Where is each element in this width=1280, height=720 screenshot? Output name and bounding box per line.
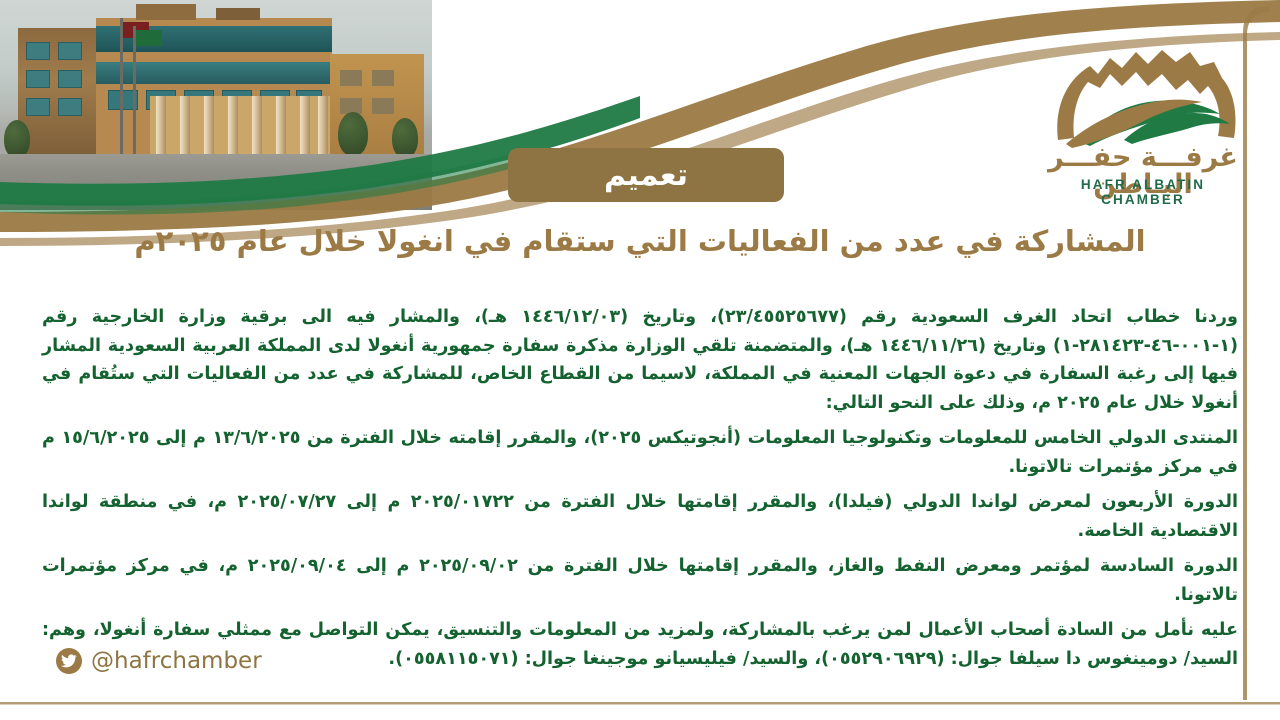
- logo-mark-icon: [1028, 44, 1256, 148]
- chamber-building-photo: [0, 0, 432, 210]
- badge-label: تعميم: [604, 158, 688, 193]
- announcement-body: وردنا خطاب اتحاد الغرف السعودية رقم (٢٣/…: [42, 303, 1238, 673]
- page-title: المشاركة في عدد من الفعاليات التي ستقام …: [40, 222, 1240, 261]
- circular-badge: تعميم: [508, 148, 784, 202]
- body-paragraph: وردنا خطاب اتحاد الغرف السعودية رقم (٢٣/…: [42, 303, 1238, 417]
- twitter-bird-icon: [56, 648, 82, 674]
- social-handle[interactable]: @hafrchamber: [56, 648, 262, 674]
- chamber-logo: غرفـــة حفـــر البـاطن HAFR ALBATIN CHAM…: [1028, 44, 1256, 194]
- body-paragraph: المنتدى الدولي الخامس للمعلومات وتكنولوج…: [42, 424, 1238, 481]
- body-paragraph: الدورة السادسة لمؤتمر ومعرض النفط والغاز…: [42, 552, 1238, 609]
- twitter-handle-text: @hafrchamber: [91, 648, 262, 674]
- logo-english-name: HAFR ALBATIN CHAMBER: [1038, 177, 1248, 207]
- body-paragraph: الدورة الأربعون لمعرض لواندا الدولي (فيل…: [42, 488, 1238, 545]
- announcement-page: غرفـــة حفـــر البـاطن HAFR ALBATIN CHAM…: [0, 0, 1280, 720]
